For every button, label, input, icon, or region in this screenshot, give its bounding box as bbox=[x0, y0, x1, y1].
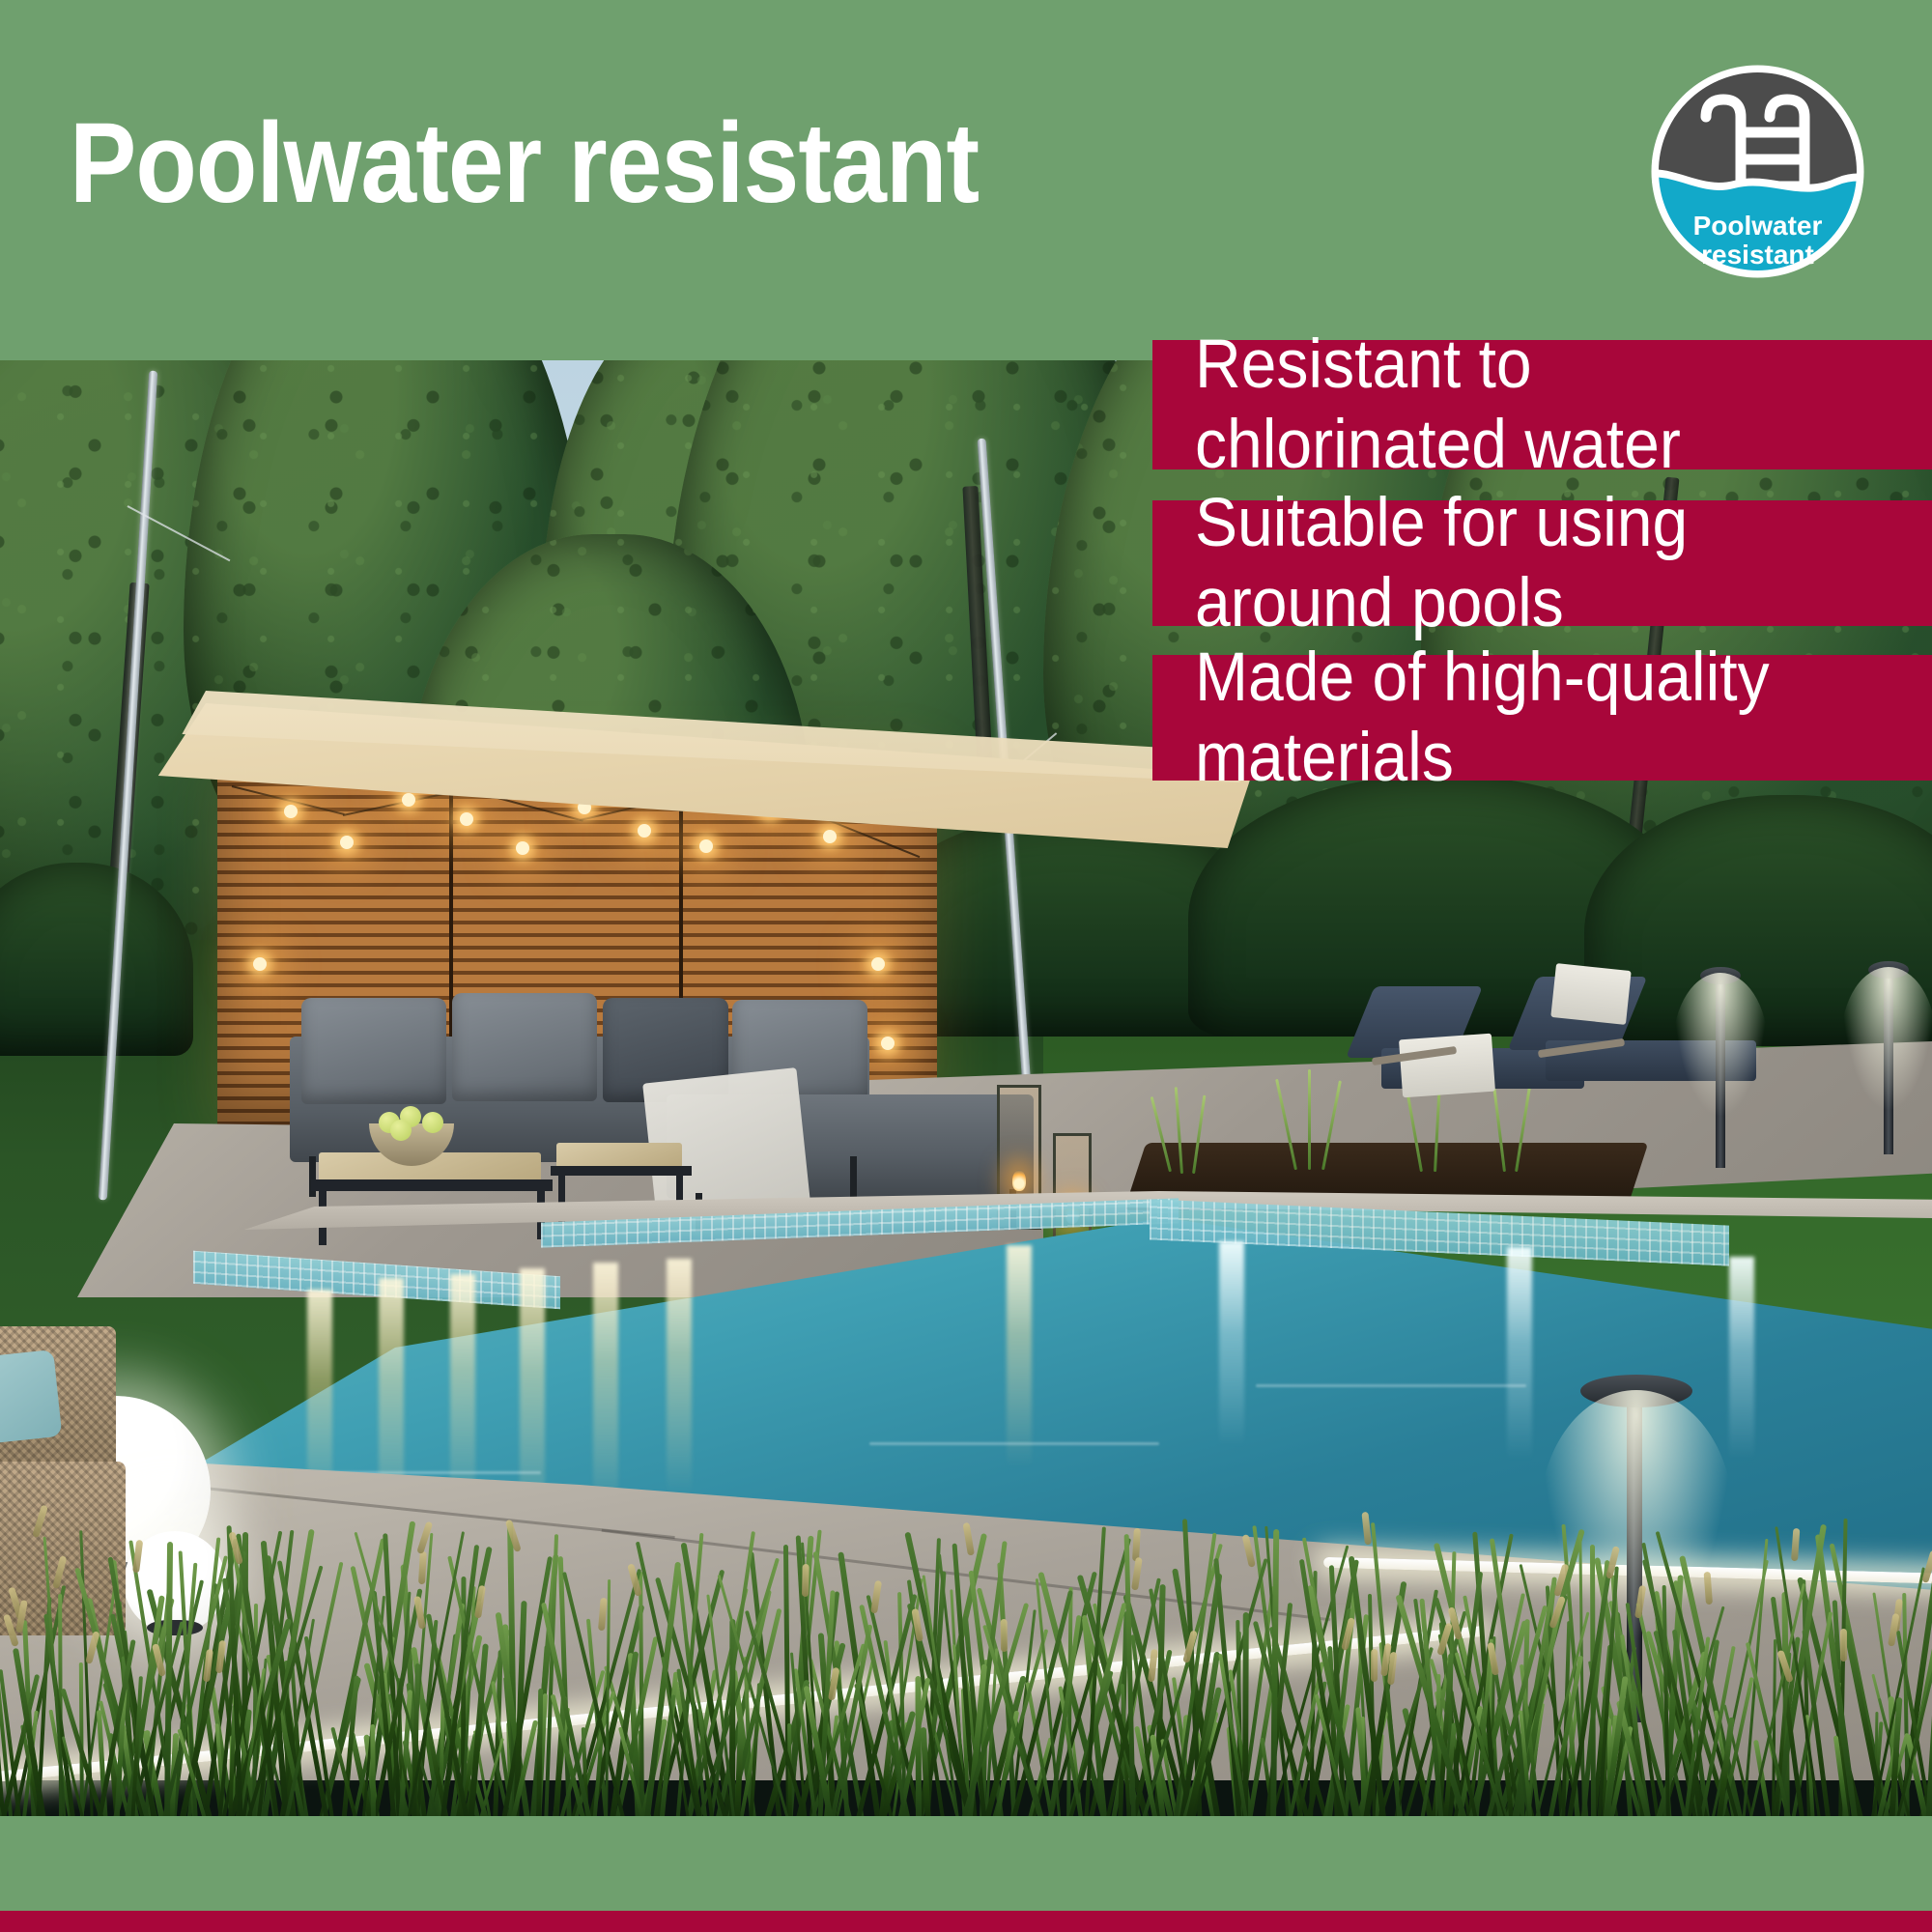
string-light-bulb bbox=[823, 830, 837, 843]
grass-blade bbox=[370, 1724, 376, 1816]
lounger-towel bbox=[1399, 1034, 1495, 1098]
footer-red-bar bbox=[0, 1911, 1932, 1932]
grass-blade bbox=[714, 1590, 772, 1816]
string-light-bulb bbox=[402, 793, 415, 807]
grass-seedhead bbox=[1704, 1572, 1713, 1605]
water-reflection bbox=[1007, 1245, 1032, 1467]
sofa-cushion bbox=[452, 993, 597, 1101]
badge-line-1: Poolwater bbox=[1693, 211, 1823, 241]
chair-cushion bbox=[0, 1350, 62, 1448]
water-reflection bbox=[1219, 1241, 1244, 1446]
footer-green-bar bbox=[0, 1816, 1932, 1911]
feature-text-1: Resistant to chlorinated water bbox=[1195, 325, 1681, 485]
fruit bbox=[390, 1120, 412, 1141]
string-light-bulb bbox=[284, 805, 298, 818]
sofa-cushion bbox=[301, 998, 446, 1104]
water-reflection bbox=[1729, 1257, 1754, 1460]
feature-box-2: Suitable for using around pools bbox=[1152, 500, 1932, 626]
grass-seedhead bbox=[1840, 1629, 1847, 1662]
string-light-bulb bbox=[881, 1037, 895, 1050]
foreground-grass bbox=[0, 1497, 1932, 1816]
water-ripple bbox=[869, 1442, 1159, 1445]
water-reflection bbox=[450, 1274, 475, 1512]
grass-seedhead bbox=[802, 1564, 810, 1597]
sofa-leg bbox=[850, 1156, 857, 1197]
water-reflection bbox=[667, 1259, 692, 1494]
side-table-top bbox=[556, 1143, 682, 1168]
grass-seedhead bbox=[132, 1540, 143, 1574]
feature-text-3: Made of high-quality materials bbox=[1195, 638, 1770, 798]
grass-seedhead bbox=[1001, 1619, 1008, 1652]
string-light-bulb bbox=[253, 957, 267, 971]
grass-seedhead bbox=[598, 1598, 608, 1631]
bollard-light-glow bbox=[1673, 973, 1768, 1118]
string-light-bulb bbox=[699, 839, 713, 853]
ornamental-grass bbox=[1308, 1069, 1311, 1170]
grass-seedhead bbox=[870, 1580, 882, 1614]
grass-seedhead bbox=[1361, 1512, 1372, 1546]
marketing-banner: Poolwater resistant bbox=[0, 0, 1932, 1932]
lantern-flame bbox=[1012, 1170, 1026, 1191]
lounger-towel bbox=[1550, 963, 1631, 1025]
poolwater-resistant-badge: Poolwater resistant bbox=[1645, 59, 1870, 284]
grass-seedhead bbox=[1634, 1585, 1646, 1619]
water-ripple bbox=[1256, 1384, 1526, 1387]
water-reflection bbox=[593, 1263, 618, 1512]
grass-seedhead bbox=[1132, 1528, 1141, 1561]
grass-seedhead bbox=[1131, 1557, 1143, 1591]
string-light-bulb bbox=[638, 824, 651, 838]
string-light-bulb bbox=[871, 957, 885, 971]
grass-seedhead bbox=[32, 1504, 48, 1538]
grass-blade bbox=[1242, 1612, 1249, 1816]
coffee-table-frame bbox=[311, 1179, 553, 1191]
string-light-bulb bbox=[516, 841, 529, 855]
grass-seedhead bbox=[962, 1522, 974, 1556]
string-light-bulb bbox=[460, 812, 473, 826]
grass-seedhead bbox=[474, 1585, 486, 1619]
grass-seedhead bbox=[1371, 1649, 1378, 1682]
fruit bbox=[422, 1112, 443, 1133]
grass-seedhead bbox=[1148, 1649, 1158, 1683]
side-table-frame bbox=[551, 1166, 692, 1176]
badge-line-2: resistant bbox=[1701, 240, 1814, 270]
feature-box-3: Made of high-quality materials bbox=[1152, 655, 1932, 781]
header-band: Poolwater resistant bbox=[0, 0, 1932, 360]
grass-seedhead bbox=[1791, 1528, 1800, 1561]
grass-seedhead bbox=[52, 1555, 67, 1589]
feature-text-2: Suitable for using around pools bbox=[1195, 483, 1688, 643]
bollard-light-glow bbox=[1841, 967, 1932, 1112]
feature-box-1: Resistant to chlorinated water bbox=[1152, 340, 1932, 469]
page-title: Poolwater resistant bbox=[70, 106, 979, 220]
water-reflection bbox=[1507, 1247, 1532, 1460]
string-light-bulb bbox=[340, 836, 354, 849]
